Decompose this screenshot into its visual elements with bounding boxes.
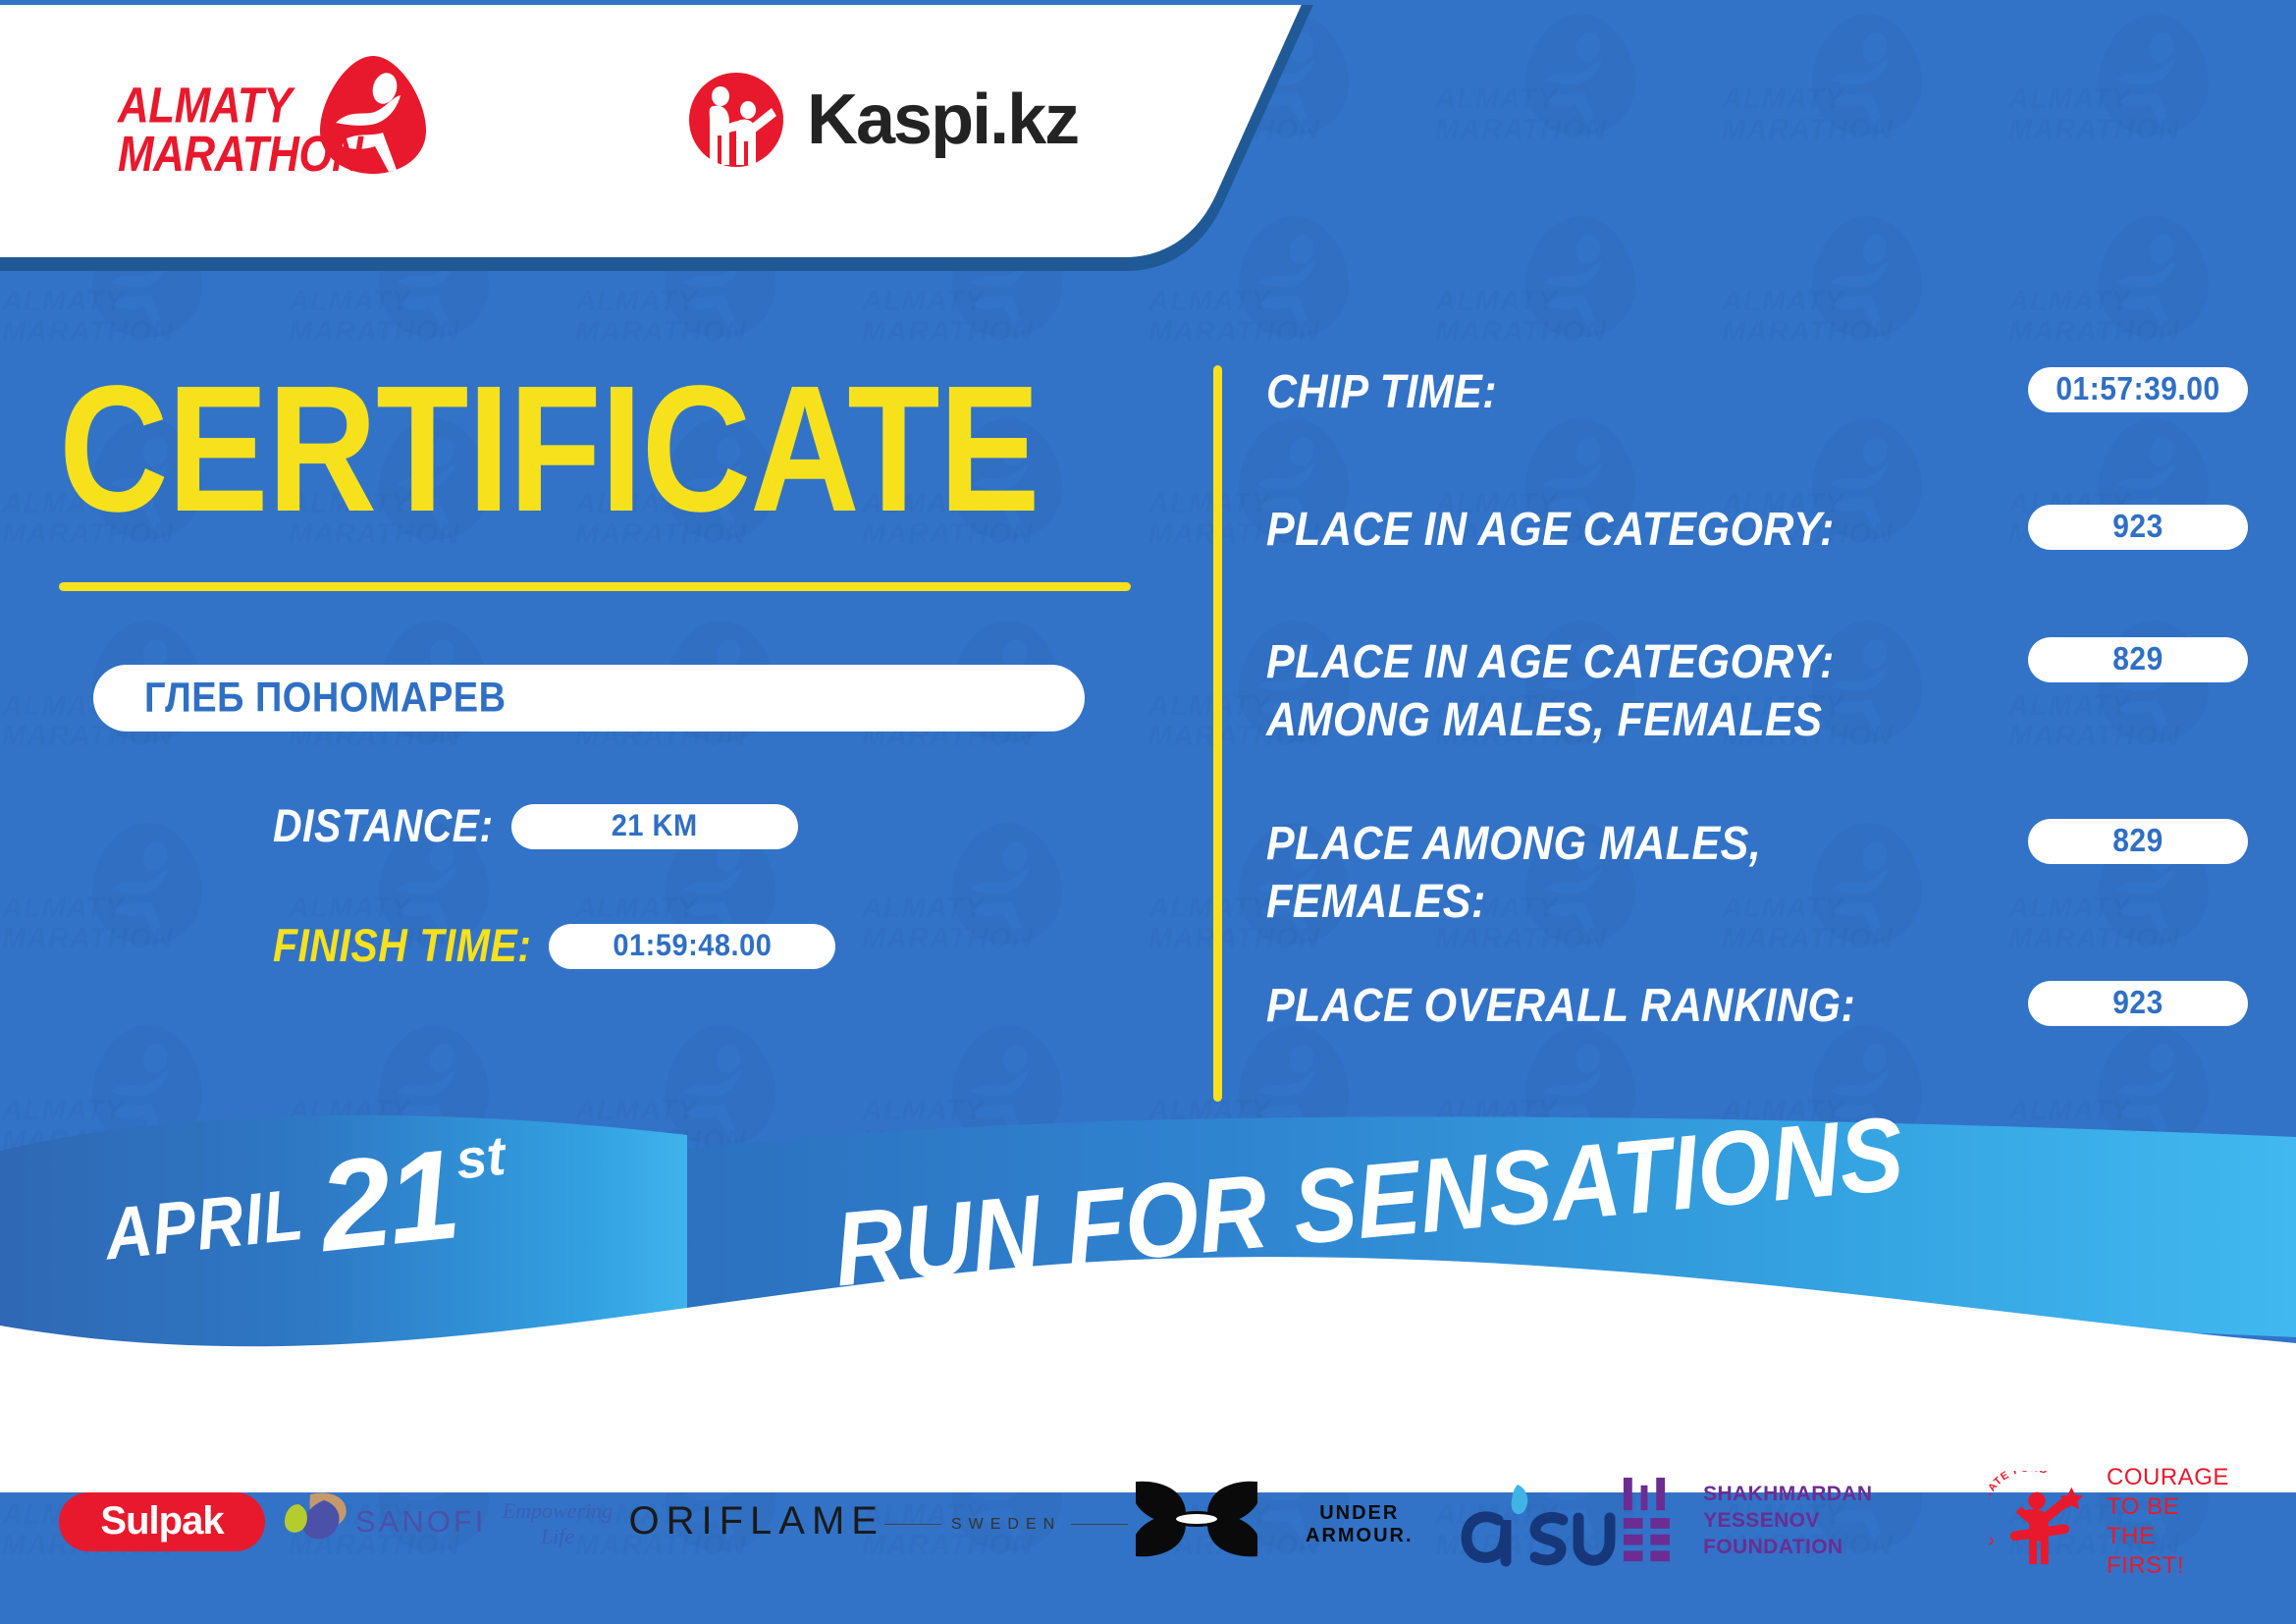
stat-row-place-age-category: PLACE IN AGE CATEGORY: 923 bbox=[1266, 501, 2248, 552]
page-title: CERTIFICATE bbox=[59, 358, 1040, 538]
kaspi-logo: Kaspi.kz bbox=[687, 71, 1078, 169]
stat-label: PLACE IN AGE CATEGORY: bbox=[1266, 501, 1835, 559]
yessenov-label-line2: FOUNDATION bbox=[1703, 1535, 1989, 1561]
stat-value-field: 923 bbox=[2028, 505, 2248, 550]
sulpak-logo: Sulpak bbox=[59, 1492, 265, 1551]
event-month: APRIL bbox=[101, 1171, 308, 1275]
top-edge-strip bbox=[0, 0, 2296, 5]
stat-label: CHIP TIME: bbox=[1266, 363, 1497, 421]
sponsor-yessenov-foundation: SHAKHMARDAN YESSENOV FOUNDATION bbox=[1620, 1475, 1989, 1569]
stat-value: 923 bbox=[2112, 985, 2163, 1021]
athlete-name: ГЛЕБ ПОНОМАРЕВ bbox=[144, 675, 507, 722]
stat-row-place-age-category-gender: PLACE IN AGE CATEGORY: AMONG MALES, FEMA… bbox=[1266, 633, 2248, 736]
marathon-line: MARATHON bbox=[118, 131, 383, 180]
sponsor-oriflame: ORIFLAME SWEDEN bbox=[628, 1499, 1128, 1543]
event-day: 21 bbox=[315, 1139, 462, 1263]
sulpak-label: Sulpak bbox=[100, 1499, 223, 1543]
sponsor-strip: Sulpak SANOFI Empowering Life ORIFLAME S… bbox=[0, 1419, 2296, 1624]
sponsor-courage-to-be-first: CORPORATE FUND COURAGE TO BE THE FIRST! bbox=[1989, 1463, 2237, 1581]
oriflame-rule-left bbox=[884, 1524, 941, 1525]
almaty-marathon-logo: ALMATY MARATHON bbox=[118, 54, 442, 206]
stat-value-field: 829 bbox=[2028, 819, 2248, 864]
sponsor-under-armour: UNDER ARMOUR. bbox=[1128, 1476, 1453, 1567]
oriflame-sub: SWEDEN bbox=[884, 1516, 1128, 1534]
stat-value: 923 bbox=[2112, 509, 2163, 545]
yessenov-label-block: SHAKHMARDAN YESSENOV FOUNDATION bbox=[1703, 1482, 1989, 1561]
under-armour-label: UNDER ARMOUR. bbox=[1265, 1502, 1453, 1547]
sponsor-asu bbox=[1453, 1475, 1620, 1569]
yessenov-label-line1: SHAKHMARDAN YESSENOV bbox=[1703, 1482, 1989, 1535]
stat-value: 829 bbox=[2112, 823, 2163, 859]
stat-value-field: 829 bbox=[2028, 637, 2248, 682]
courage-label-block: COURAGE TO BE THE FIRST! bbox=[2107, 1463, 2237, 1581]
stat-row-place-overall: PLACE OVERALL RANKING: 923 bbox=[1266, 977, 2248, 1028]
kaspi-wordmark: Kaspi.kz bbox=[807, 84, 1078, 155]
event-day-ordinal: st bbox=[453, 1123, 507, 1192]
stat-value: 829 bbox=[2112, 641, 2163, 677]
sanofi-mark-icon bbox=[265, 1490, 355, 1547]
stat-label: PLACE AMONG MALES, FEMALES: bbox=[1266, 815, 1944, 932]
courage-line2: TO BE bbox=[2107, 1492, 2237, 1522]
stat-row-chip-time: CHIP TIME: 01:57:39.00 bbox=[1266, 363, 2248, 414]
certificate-page: ALMATY MARATHON bbox=[0, 0, 2296, 1624]
athlete-name-field: ГЛЕБ ПОНОМАРЕВ bbox=[93, 665, 1085, 731]
stat-value-field: 01:57:39.00 bbox=[2028, 367, 2248, 412]
stat-value: 01:57:39.00 bbox=[2056, 371, 2219, 407]
stat-label: PLACE IN AGE CATEGORY: AMONG MALES, FEMA… bbox=[1266, 633, 1944, 750]
almaty-line: ALMATY bbox=[118, 81, 383, 131]
title-divider bbox=[59, 582, 1131, 591]
almaty-marathon-wordmark: ALMATY MARATHON bbox=[118, 81, 383, 179]
asu-logo-icon bbox=[1453, 1475, 1620, 1569]
courage-line1: COURAGE bbox=[2107, 1463, 2237, 1492]
header-logos: ALMATY MARATHON Kaspi.kz bbox=[0, 0, 1227, 285]
oriflame-rule-right bbox=[1071, 1524, 1128, 1525]
certificate-left-column: CERTIFICATE ГЛЕБ ПОНОМАРЕВ bbox=[0, 334, 1178, 1100]
oriflame-label: ORIFLAME bbox=[628, 1499, 883, 1543]
yessenov-mark-icon bbox=[1620, 1475, 1682, 1569]
stat-label: PLACE OVERALL RANKING: bbox=[1266, 977, 1855, 1035]
sponsor-sanofi: SANOFI Empowering Life bbox=[265, 1490, 628, 1552]
column-divider bbox=[1213, 365, 1222, 1102]
header-band: ALMATY MARATHON Kaspi.kz bbox=[0, 0, 2296, 324]
kaspi-people-icon bbox=[687, 71, 785, 169]
under-armour-icon bbox=[1128, 1476, 1265, 1562]
courage-line3: THE FIRST! bbox=[2107, 1522, 2237, 1581]
sanofi-tagline: Empowering Life bbox=[486, 1498, 628, 1549]
oriflame-tagline: SWEDEN bbox=[951, 1516, 1061, 1534]
courage-fund-icon: CORPORATE FUND bbox=[1989, 1471, 2093, 1573]
stat-value-field: 923 bbox=[2028, 981, 2248, 1026]
sponsor-sulpak: Sulpak bbox=[59, 1492, 265, 1551]
sanofi-label: SANOFI bbox=[355, 1504, 486, 1540]
stat-row-place-among-gender: PLACE AMONG MALES, FEMALES: 829 bbox=[1266, 815, 2248, 918]
